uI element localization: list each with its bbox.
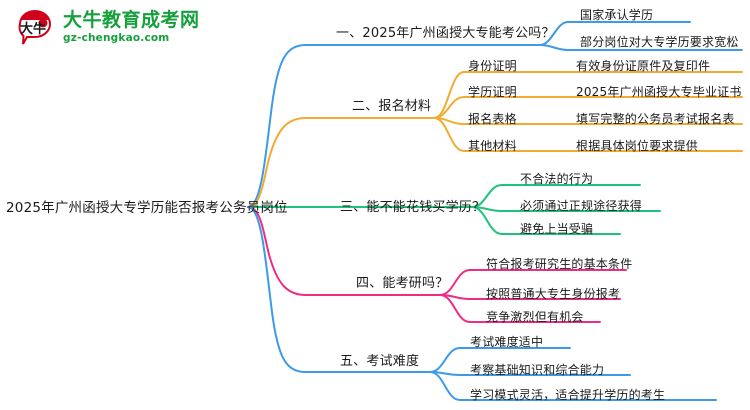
branch-3-leaf-3[interactable]: 避免上当受骗 xyxy=(520,220,593,237)
mindmap-canvas: 大牛 大牛教育成考网 gz-chengkao.com 2025年广州函授大专学历… xyxy=(0,0,750,410)
branch-3-leaf-2[interactable]: 必须通过正规途径获得 xyxy=(520,197,642,214)
branch-1-leaf-2[interactable]: 部分岗位对大专学历要求宽松 xyxy=(580,33,739,50)
mindmap-root-label[interactable]: 2025年广州函授大专学历能否报考公务员岗位 xyxy=(6,196,288,216)
branch-title-2[interactable]: 二、报名材料 xyxy=(352,95,431,114)
branch-4-leaf-1[interactable]: 符合报考研究生的基本条件 xyxy=(486,255,632,272)
branch-1-leaf-1[interactable]: 国家承认学历 xyxy=(580,6,653,23)
branch-2-detail-2[interactable]: 2025年广州函授大专毕业证书 xyxy=(576,83,742,100)
branch-5-leaf-1[interactable]: 考试难度适中 xyxy=(470,333,543,350)
branch-4-leaf-3[interactable]: 竞争激烈但有机会 xyxy=(486,308,584,325)
logo-name-cn: 大牛教育成考网 xyxy=(63,11,200,30)
svg-text:大牛: 大牛 xyxy=(20,21,46,37)
branch-2-detail-3[interactable]: 填写完整的公务员考试报名表 xyxy=(576,110,735,127)
branch-2-leaf-2[interactable]: 学历证明 xyxy=(468,83,517,100)
branch-2-leaf-3[interactable]: 报名表格 xyxy=(468,110,517,127)
branch-4-leaf-2[interactable]: 按照普通大专生身份报考 xyxy=(486,285,620,302)
branch-2-leaf-4[interactable]: 其他材料 xyxy=(468,137,517,154)
site-logo[interactable]: 大牛 大牛教育成考网 gz-chengkao.com xyxy=(14,6,200,48)
branch-2-spine xyxy=(248,118,434,207)
branch-2-detail-4[interactable]: 根据具体岗位要求提供 xyxy=(576,137,698,154)
branch-2-detail-1[interactable]: 有效身份证原件及复印件 xyxy=(576,57,710,74)
logo-name-en: gz-chengkao.com xyxy=(63,33,200,44)
branch-title-1[interactable]: 一、2025年广州函授大专能考公吗？ xyxy=(336,22,555,41)
branch-title-4[interactable]: 四、能考研吗？ xyxy=(356,272,448,291)
branch-5-leaf-3[interactable]: 学习模式灵活，适合提升学历的考生 xyxy=(470,386,665,403)
branch-title-5[interactable]: 五、考试难度 xyxy=(340,350,419,369)
branch-title-3[interactable]: 三、能不能花钱买学历？ xyxy=(340,196,485,215)
branch-3-leaf-1[interactable]: 不合法的行为 xyxy=(520,170,593,187)
branch-5-leaf-2[interactable]: 考察基础知识和综合能力 xyxy=(470,361,604,378)
branch-2-leaf-1[interactable]: 身份证明 xyxy=(468,57,517,74)
speech-bubble-logo-icon: 大牛 xyxy=(14,6,56,48)
